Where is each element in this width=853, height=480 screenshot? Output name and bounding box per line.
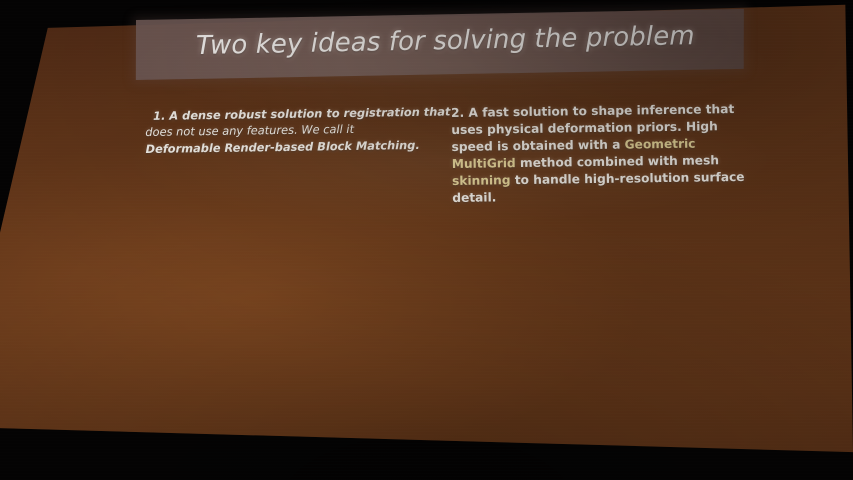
- right-line-2-run-1: uses physical deformation priors. High: [451, 119, 718, 137]
- right-line-3-highlight-geometric: Geometric: [625, 137, 696, 152]
- right-line-5-run-2: to handle high-resolution surface: [510, 170, 744, 187]
- right-line-3-run-1: speed is obtained with a: [451, 138, 624, 154]
- left-text-column: 1. A dense robust solution to registrati…: [145, 104, 446, 158]
- presentation-slide: Two key ideas for solving the problem 1.…: [0, 0, 853, 480]
- right-line-6-run-1: detail.: [452, 190, 496, 205]
- right-line-5-highlight-skinning: skinning: [452, 173, 511, 188]
- right-line-1-run-1: 2. A fast solution to shape inference th…: [451, 102, 734, 120]
- right-text-column: 2. A fast solution to shape inference th…: [451, 101, 754, 207]
- left-column-line-3: Deformable Render-based Block Matching.: [145, 136, 445, 157]
- right-line-4-highlight-multigrid: MultiGrid: [452, 156, 516, 171]
- screenshot-stage: Two key ideas for solving the problem 1.…: [0, 0, 853, 480]
- right-line-4-run-2: method combined with mesh: [516, 153, 719, 170]
